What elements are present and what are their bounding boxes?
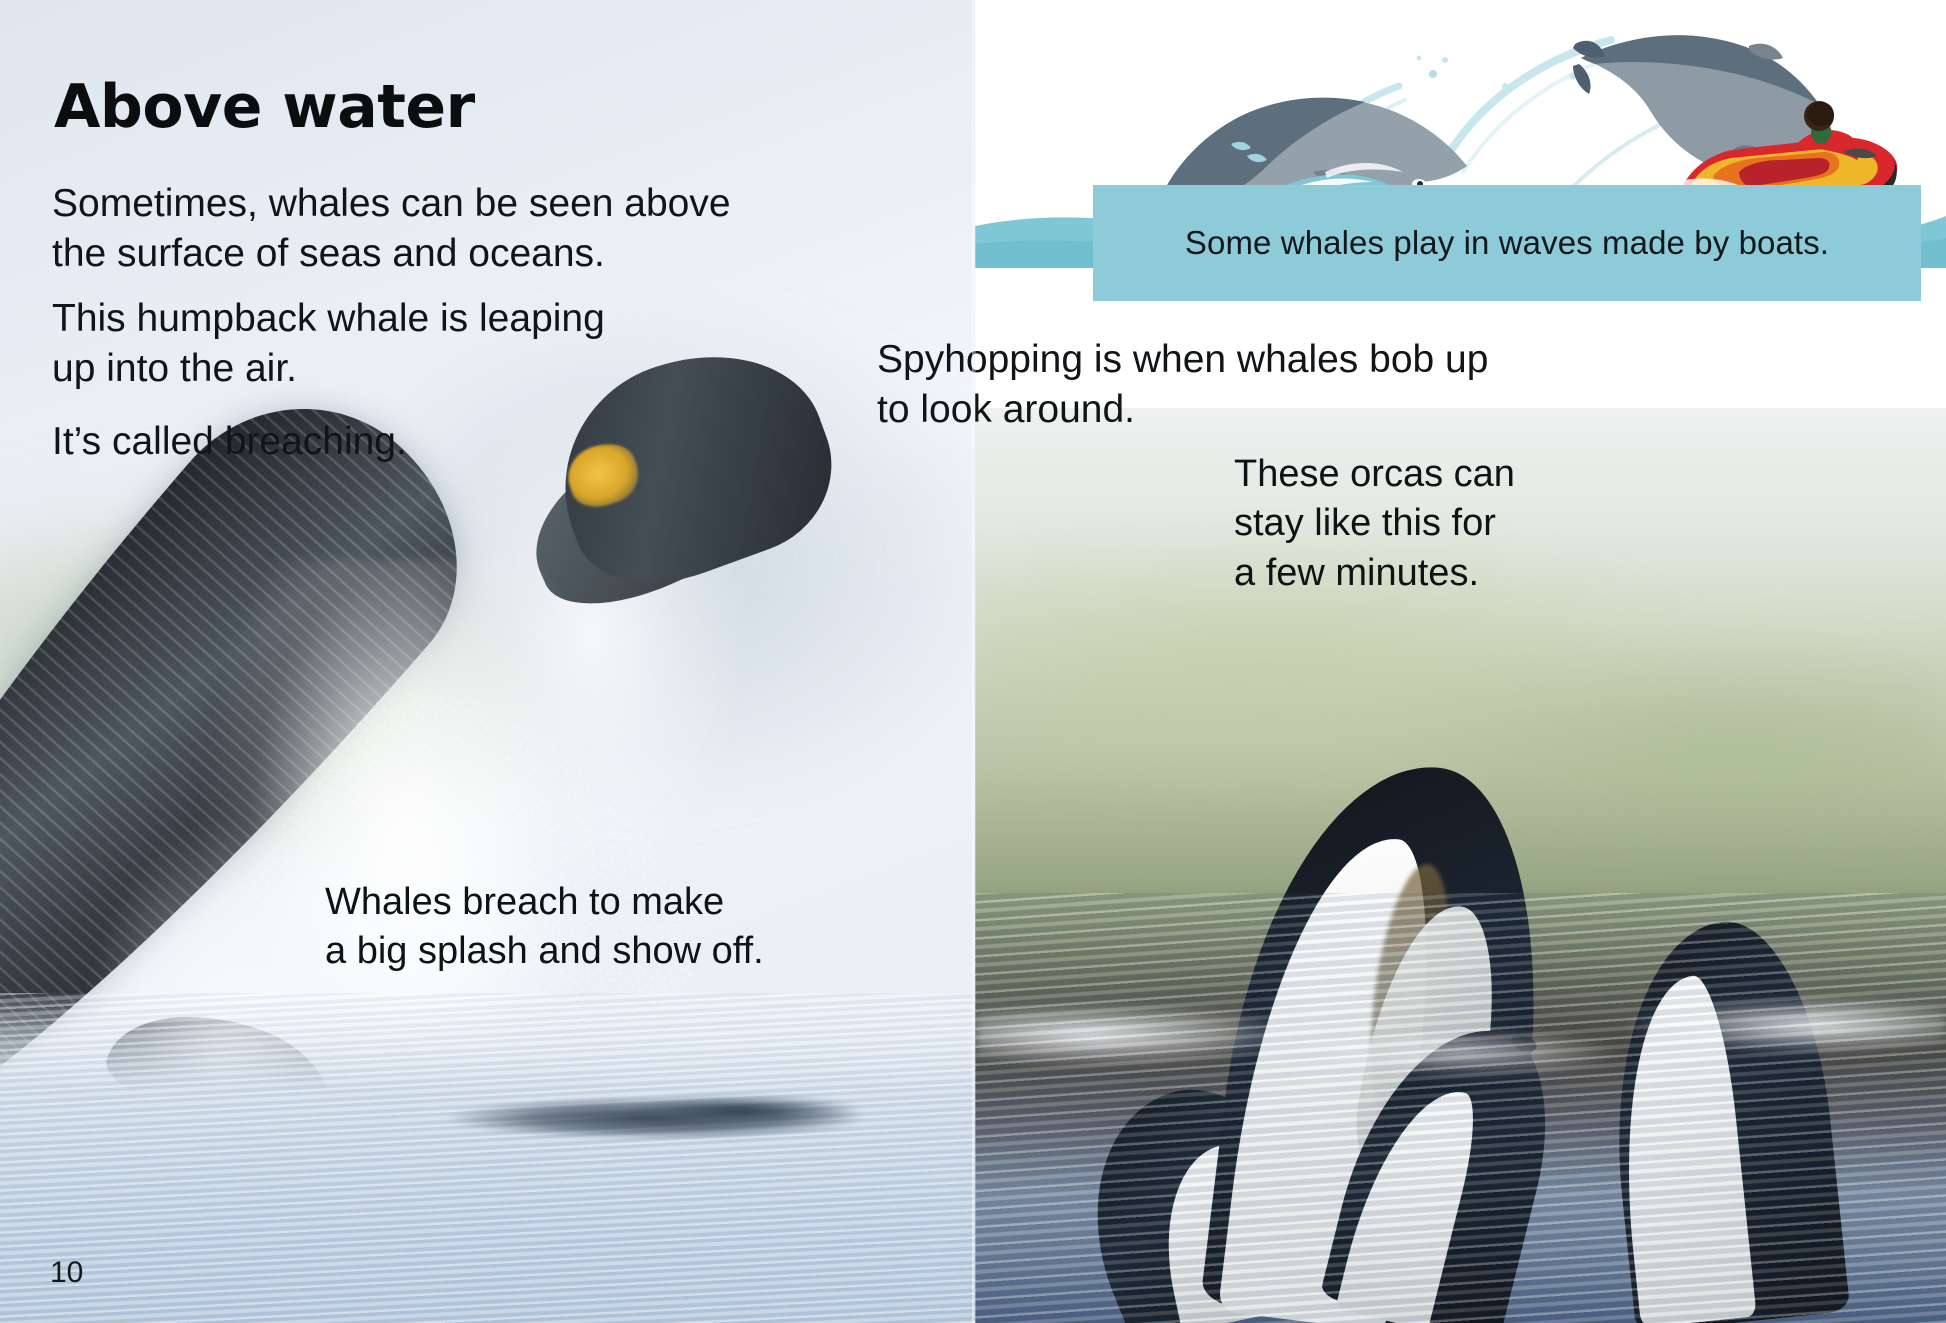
book-spread: Above water Sometimes, whales can be see… [0,0,1946,1323]
left-paragraph-1: Sometimes, whales can be seen above the … [52,179,731,279]
left-page: Above water Sometimes, whales can be see… [0,0,975,1323]
right-page: Some whales play in waves made by boats. [975,0,1946,1323]
left-paragraph-3: It’s called breaching. [52,417,407,467]
page-number: 10 [50,1256,83,1290]
orca-ocean-texture [975,893,1946,1323]
page-title: Above water [54,77,475,137]
banner-caption: Some whales play in waves made by boats. [1093,185,1921,301]
ocean-surface [0,993,975,1323]
left-photo-caption: Whales breach to make a big splash and s… [325,878,764,977]
right-photo-caption: These orcas can stay like this for a few… [1234,450,1515,598]
banner-caption-text: Some whales play in waves made by boats. [1185,224,1829,262]
right-paragraph-1: Spyhopping is when whales bob up to look… [877,335,1488,435]
ocean-dark-wave-2 [620,1093,870,1127]
left-paragraph-2: This humpback whale is leaping up into t… [52,294,605,394]
